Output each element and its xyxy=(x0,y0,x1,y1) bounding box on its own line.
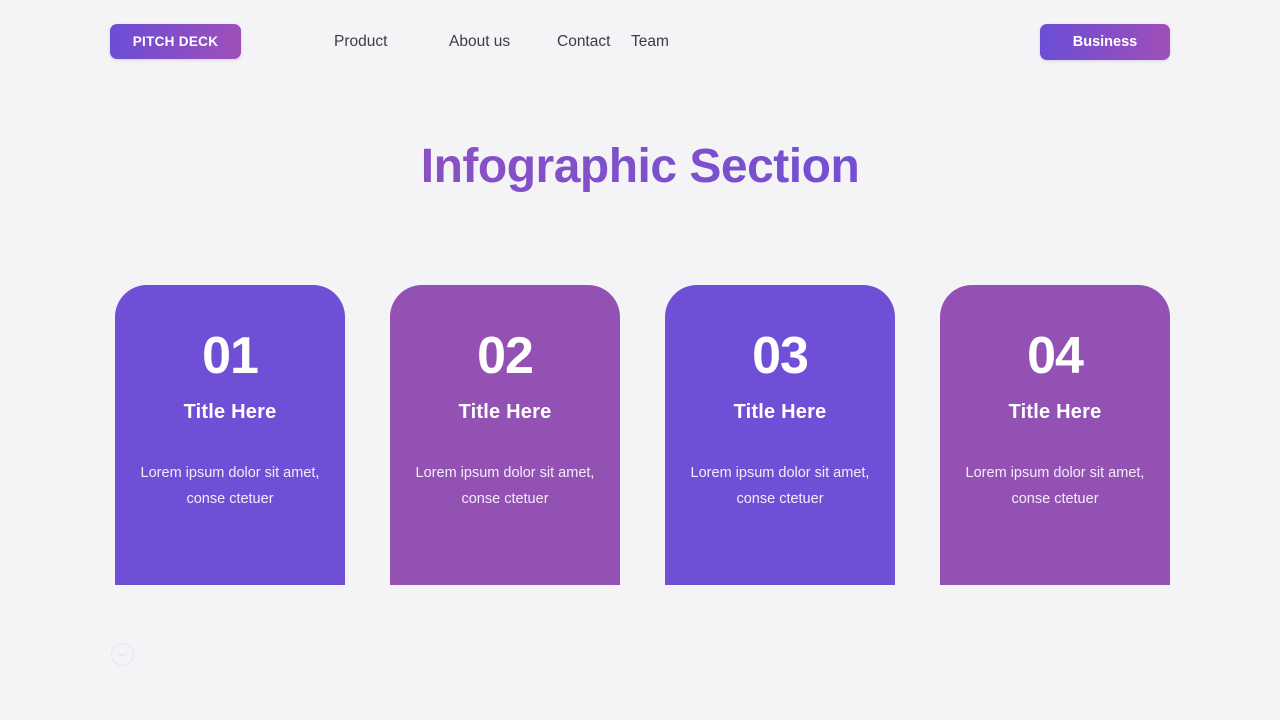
infographic-card[interactable]: 03 Title Here Lorem ipsum dolor sit amet… xyxy=(665,285,895,585)
card-number: 01 xyxy=(202,330,258,382)
card-body: Lorem ipsum dolor sit amet, conse ctetue… xyxy=(135,460,325,512)
card-body: Lorem ipsum dolor sit amet, conse ctetue… xyxy=(960,460,1150,512)
infographic-card-row: 01 Title Here Lorem ipsum dolor sit amet… xyxy=(115,285,1170,585)
infographic-card[interactable]: 04 Title Here Lorem ipsum dolor sit amet… xyxy=(940,285,1170,585)
card-title: Title Here xyxy=(1009,401,1102,424)
nav-item-contact[interactable]: Contact xyxy=(557,33,631,51)
card-title: Title Here xyxy=(459,401,552,424)
slide-canvas: PITCH DECK Product About us Contact Team… xyxy=(0,0,1280,720)
card-body: Lorem ipsum dolor sit amet, conse ctetue… xyxy=(410,460,600,512)
card-title: Title Here xyxy=(184,401,277,424)
card-number: 03 xyxy=(752,330,808,382)
brand-pitch-deck-button[interactable]: PITCH DECK xyxy=(110,24,241,59)
infographic-card[interactable]: 01 Title Here Lorem ipsum dolor sit amet… xyxy=(115,285,345,585)
primary-nav: Product About us Contact Team xyxy=(334,24,691,59)
infographic-card[interactable]: 02 Title Here Lorem ipsum dolor sit amet… xyxy=(390,285,620,585)
brand-label: PITCH DECK xyxy=(133,34,219,49)
card-body: Lorem ipsum dolor sit amet, conse ctetue… xyxy=(685,460,875,512)
business-cta-button[interactable]: Business xyxy=(1040,24,1170,60)
card-number: 04 xyxy=(1027,330,1083,382)
page-title: Infographic Section xyxy=(0,139,1280,194)
chevron-down-circle-icon[interactable] xyxy=(111,643,134,666)
business-cta-label: Business xyxy=(1073,34,1137,50)
top-navbar: PITCH DECK Product About us Contact Team… xyxy=(0,0,1280,84)
nav-item-product[interactable]: Product xyxy=(334,33,449,51)
card-title: Title Here xyxy=(734,401,827,424)
nav-item-about-us[interactable]: About us xyxy=(449,33,557,51)
card-number: 02 xyxy=(477,330,533,382)
nav-item-team[interactable]: Team xyxy=(631,33,691,51)
